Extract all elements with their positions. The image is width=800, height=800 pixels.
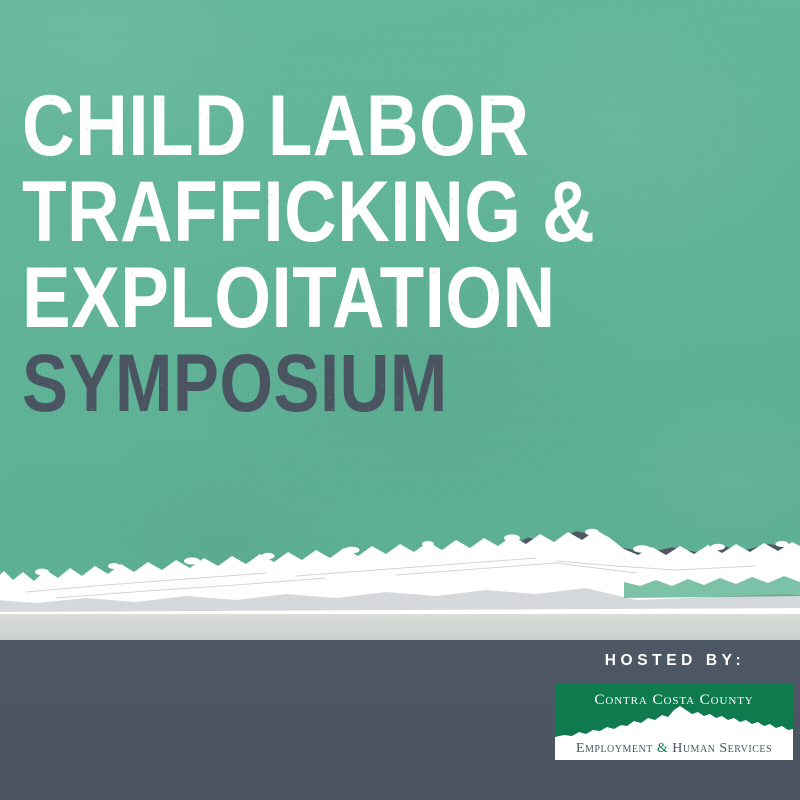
hosted-by-label: Hosted By:: [555, 652, 795, 670]
contra-costa-county-logo: Contra Costa County Employment & Human S…: [555, 684, 793, 760]
headline-line-4-symposium: Symposium: [22, 345, 751, 424]
headline-block: Child Labor Trafficking & Exploitation S…: [22, 84, 762, 413]
logo-department-ampersand: &: [657, 741, 668, 756]
poster-canvas: Child Labor Trafficking & Exploitation S…: [0, 0, 800, 800]
logo-department-prefix: Employment: [576, 741, 653, 756]
logo-department-suffix: Human Services: [672, 741, 772, 756]
logo-department-name: Employment & Human Services: [555, 741, 793, 757]
mount-diablo-silhouette: [555, 704, 793, 740]
hosted-by-block: Hosted By: Contra Costa County Employmen…: [555, 652, 795, 760]
headline-line-3: Exploitation: [22, 256, 751, 339]
headline-line-2: Trafficking &: [22, 170, 751, 253]
headline-line-1: Child Labor: [22, 84, 751, 167]
